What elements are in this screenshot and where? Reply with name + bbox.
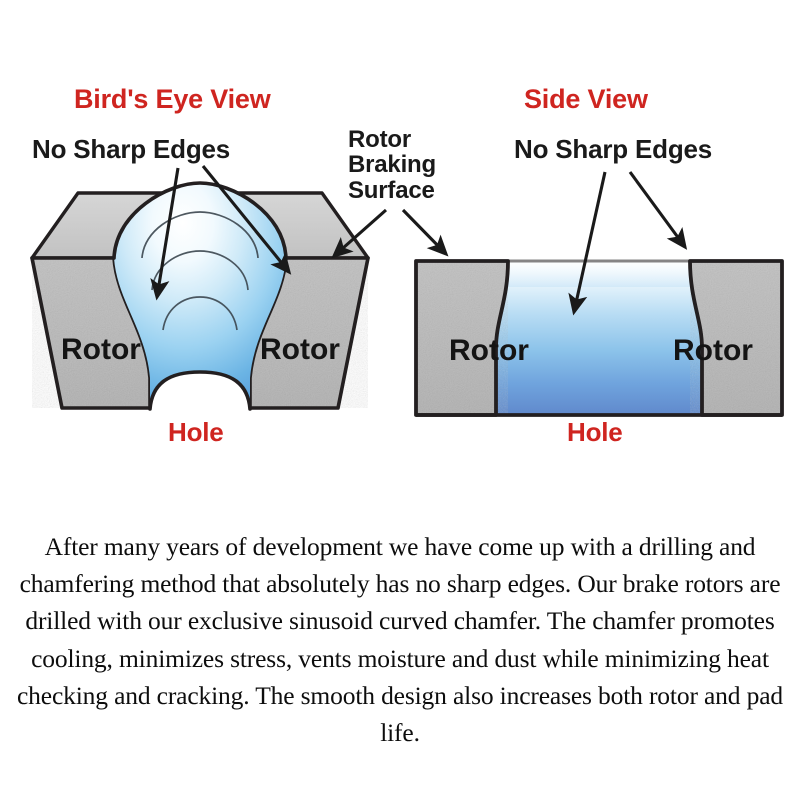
hole-label-right: Hole: [567, 419, 623, 446]
rotor-face-label-left: Rotor: [61, 333, 141, 366]
description-paragraph: After many years of development we have …: [8, 528, 792, 751]
birds-eye-block: Rotor Rotor: [32, 166, 386, 409]
callout-rotor-braking-surface: Rotor Braking Surface: [348, 127, 436, 203]
birds-eye-view-title: Bird's Eye View: [74, 86, 271, 114]
side-rotor-face-label-left: Rotor: [449, 334, 529, 367]
callout-no-sharp-edges-left: No Sharp Edges: [32, 136, 230, 163]
callout-no-sharp-edges-right: No Sharp Edges: [514, 136, 712, 163]
rotor-braking-surface-arrow-right: [403, 210, 446, 254]
rotor-face-label-right: Rotor: [260, 333, 340, 366]
side-no-sharp-edges-arrow-right: [630, 172, 685, 247]
rotor-chamfer-illustration: Rotor Rotor Rotor Rotor: [0, 0, 800, 500]
side-view-title: Side View: [524, 86, 648, 114]
hole-label-left: Hole: [168, 419, 224, 446]
diagram-canvas: Rotor Rotor Rotor Rotor: [0, 0, 800, 800]
side-view-block: Rotor Rotor: [403, 172, 782, 415]
side-rotor-face-label-right: Rotor: [673, 334, 753, 367]
